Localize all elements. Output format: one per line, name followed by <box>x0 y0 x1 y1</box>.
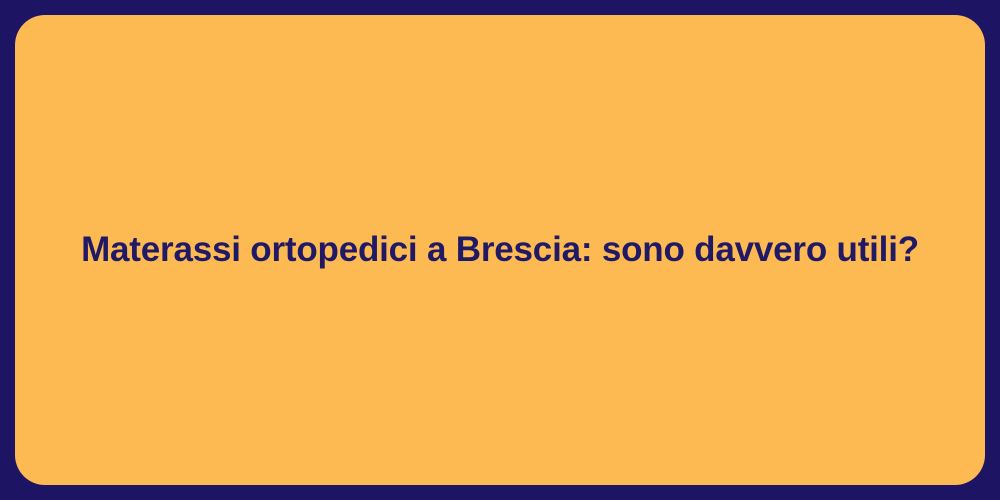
title-card-panel: Materassi ortopedici a Brescia: sono dav… <box>15 15 985 485</box>
title-card-frame: Materassi ortopedici a Brescia: sono dav… <box>0 0 1000 500</box>
page-title: Materassi ortopedici a Brescia: sono dav… <box>15 228 985 272</box>
